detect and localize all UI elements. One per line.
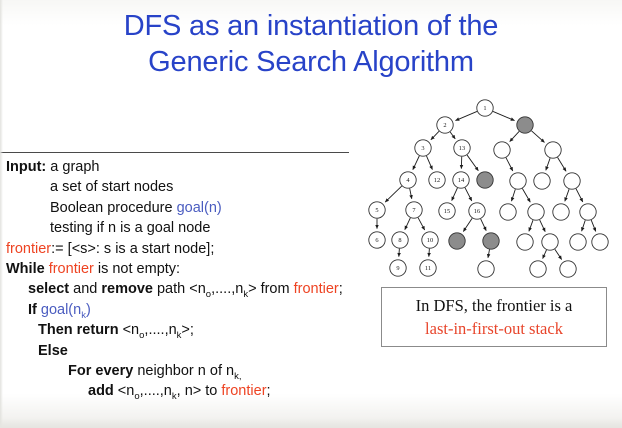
pseudocode-token: frontier: [6, 241, 51, 257]
tree-node: 5: [369, 202, 385, 218]
tree-node-circle: [534, 173, 550, 189]
tree-node: 13: [454, 140, 470, 156]
pseudocode-token: > from: [248, 281, 294, 297]
tree-node-frontier: [477, 172, 493, 188]
tree-node: 4: [400, 172, 416, 188]
pseudocode-token: select: [28, 281, 69, 297]
page-title-line-1: DFS as an instantiation of the: [0, 8, 622, 44]
tree-node-frontier: [517, 117, 533, 133]
tree-node-label: 2: [443, 122, 446, 129]
pseudocode-token: testing if n is a goal node: [50, 220, 210, 236]
pseudocode-token: remove: [101, 281, 153, 297]
tree-node-circle: [570, 234, 586, 250]
pseudocode-token: add: [88, 383, 114, 399]
tree-node: 15: [439, 203, 455, 219]
tree-edge: [455, 111, 477, 120]
pseudocode-token: <n: [114, 383, 135, 399]
search-tree-svg: 12313412145715166810911: [368, 96, 622, 286]
tree-node-label: 10: [427, 237, 433, 244]
tree-node: 7: [406, 202, 422, 218]
pseudocode-token: ;: [339, 281, 343, 297]
pseudocode-token: For every: [68, 363, 133, 379]
tree-node-label: 16: [474, 208, 480, 215]
page-title: DFS as an instantiation of the Generic S…: [0, 8, 622, 80]
pseudocode-line: If goal(nk): [6, 300, 406, 320]
tree-node-label: 12: [434, 177, 440, 184]
pseudocode-token: While: [6, 261, 49, 277]
tree-node-label: 14: [458, 177, 465, 184]
tree-node-circle: [478, 261, 494, 277]
tree-edge: [410, 189, 412, 199]
tree-edge: [418, 218, 425, 230]
tree-edge: [463, 218, 472, 231]
tree-node-label: 5: [375, 207, 378, 214]
tree-edge: [405, 218, 411, 230]
tree-node-circle: [545, 142, 561, 158]
callout-line-1: In DFS, the frontier is a: [382, 294, 606, 317]
tree-node: [510, 173, 526, 189]
tree-node-circle: [564, 173, 580, 189]
tree-node: [542, 234, 558, 250]
tree-node: [494, 142, 510, 158]
tree-node: [560, 261, 576, 277]
tree-edge: [488, 250, 489, 258]
pseudocode-line: Then return <no,....,nk>;: [6, 320, 406, 340]
pseudocode-token: := [<s>: s is a start node];: [51, 241, 214, 257]
tree-edge: [555, 249, 562, 259]
pseudocode-line: select and remove path <no,....,nk> from…: [6, 279, 406, 299]
tree-edge: [558, 157, 566, 171]
pseudocode-line: While frontier is not empty:: [6, 259, 406, 279]
pseudocode-line: Boolean procedure goal(n): [6, 198, 406, 218]
tree-node: [564, 173, 580, 189]
horizontal-divider: [0, 152, 349, 153]
pseudocode-token: a set of start nodes: [50, 179, 173, 195]
pseudocode-token: Then return: [38, 322, 119, 338]
tree-node: [553, 204, 569, 220]
pseudocode-token: Boolean procedure: [50, 200, 177, 216]
tree-node: 9: [390, 260, 406, 276]
pseudocode-token: ,....,n: [211, 281, 243, 297]
tree-node-label: 8: [398, 237, 401, 244]
tree-node: 3: [415, 140, 431, 156]
pseudocode-token: is not empty:: [94, 261, 180, 277]
tree-edge: [546, 158, 550, 170]
pseudocode-token: Else: [38, 343, 68, 359]
pseudocode-token: , n> to: [177, 383, 222, 399]
tree-node-circle: [542, 234, 558, 250]
page-title-line-2: Generic Search Algorithm: [0, 44, 622, 80]
dfs-frontier-callout-box: In DFS, the frontier is a last-in-first-…: [381, 287, 607, 347]
tree-node-circle: [528, 204, 544, 220]
pseudocode-token: ;: [267, 383, 271, 399]
pseudocode-token: ,....,n: [140, 383, 172, 399]
tree-node: [517, 234, 533, 250]
tree-edge: [582, 220, 586, 231]
tree-node: 14: [453, 172, 469, 188]
tree-node: 6: [369, 232, 385, 248]
tree-edge: [493, 111, 515, 120]
tree-edge: [413, 156, 419, 170]
pseudocode-token: a graph: [46, 159, 99, 175]
tree-node-circle: [592, 234, 608, 250]
tree-edge: [426, 156, 432, 170]
tree-node-label: 1: [483, 105, 486, 112]
tree-node-frontier: [449, 233, 465, 249]
pseudocode-token: ,....,n: [144, 322, 176, 338]
tree-node-label: 6: [375, 237, 378, 244]
tree-edge: [540, 220, 546, 232]
tree-edge: [565, 189, 569, 201]
tree-node-circle: [553, 204, 569, 220]
tree-node: [570, 234, 586, 250]
tree-node: 1: [477, 100, 493, 116]
tree-node: 10: [422, 232, 438, 248]
pseudocode-line: Input: a graph: [6, 157, 406, 177]
tree-edge: [431, 131, 439, 139]
tree-edge: [591, 220, 596, 231]
pseudocode-token: path <n: [153, 281, 206, 297]
tree-node: [478, 261, 494, 277]
tree-node: [592, 234, 608, 250]
tree-edge: [510, 131, 519, 141]
tree-edge: [506, 158, 513, 171]
tree-edge: [429, 249, 430, 257]
pseudocode-token: Input:: [6, 159, 46, 175]
pseudocode-line: Else: [6, 341, 406, 361]
pseudocode-token: If: [28, 302, 41, 318]
pseudocode-token: >;: [181, 322, 194, 338]
tree-node-circle: [483, 233, 499, 249]
tree-edge: [543, 250, 547, 259]
tree-node-circle: [494, 142, 510, 158]
pseudocode-token: goal(n: [41, 302, 81, 318]
tree-edge: [467, 155, 478, 171]
tree-node-label: 3: [421, 145, 424, 152]
tree-node-label: 11: [425, 265, 431, 272]
pseudocode-token: <n: [119, 322, 140, 338]
pseudocode-token: k,: [234, 371, 241, 382]
tree-edge: [522, 189, 530, 203]
pseudocode-line: add <no,....,nk, n> to frontier;: [6, 381, 406, 401]
tree-nodes: 12313412145715166810911: [369, 100, 608, 277]
tree-node-circle: [449, 233, 465, 249]
tree-node: 12: [429, 172, 445, 188]
tree-node-label: 9: [396, 265, 399, 272]
tree-node: 2: [437, 117, 453, 133]
pseudocode-token: goal(n): [177, 200, 222, 216]
tree-node: [534, 173, 550, 189]
tree-node-frontier: [483, 233, 499, 249]
tree-node-label: 13: [459, 145, 465, 152]
pseudocode-token: and: [69, 281, 101, 297]
tree-node-label: 15: [444, 208, 450, 215]
pseudocode-token: neighbor n of n: [133, 363, 234, 379]
pseudocode-token: ): [86, 302, 91, 318]
tree-edge: [531, 131, 544, 143]
pseudocode-line: testing if n is a goal node: [6, 218, 406, 238]
tree-edge: [481, 219, 487, 231]
tree-edge: [399, 249, 400, 257]
tree-node-circle: [500, 204, 516, 220]
tree-edge: [465, 188, 472, 201]
pseudocode-line: For every neighbor n of nk,: [6, 361, 406, 381]
tree-node: [545, 142, 561, 158]
pseudocode-line: a set of start nodes: [6, 177, 406, 197]
tree-node: [500, 204, 516, 220]
tree-node-circle: [517, 117, 533, 133]
search-tree-diagram: 12313412145715166810911: [368, 96, 622, 286]
pseudocode-token: frontier: [221, 383, 266, 399]
tree-node-circle: [560, 261, 576, 277]
tree-node-circle: [580, 204, 596, 220]
tree-edge: [385, 186, 402, 202]
tree-edge: [529, 220, 533, 231]
tree-edge: [450, 132, 455, 139]
tree-node: 8: [392, 232, 408, 248]
callout-line-2: last-in-first-out stack: [382, 317, 606, 340]
tree-node-circle: [517, 234, 533, 250]
tree-node-circle: [510, 173, 526, 189]
pseudocode-line: frontier:= [<s>: s is a start node];: [6, 239, 406, 259]
pseudocode-block: Input: a grapha set of start nodesBoolea…: [6, 157, 406, 402]
tree-node-circle: [477, 172, 493, 188]
pseudocode-token: frontier: [294, 281, 339, 297]
tree-node-circle: [530, 261, 546, 277]
tree-node: [528, 204, 544, 220]
tree-node: 11: [420, 260, 436, 276]
tree-edge: [511, 189, 515, 201]
tree-edge: [452, 188, 458, 201]
pseudocode-token: frontier: [49, 261, 94, 277]
tree-edge: [576, 189, 583, 202]
tree-node: [530, 261, 546, 277]
tree-node: 16: [469, 203, 485, 219]
tree-node: [580, 204, 596, 220]
